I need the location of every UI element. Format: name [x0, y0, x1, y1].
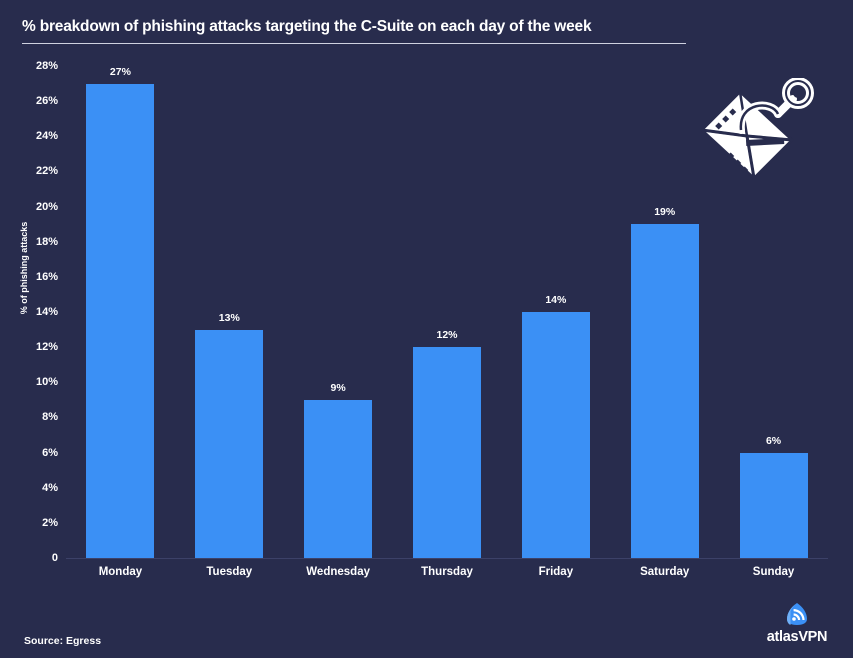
bar[interactable]: 13% — [195, 330, 263, 558]
y-axis-tick-label: 10% — [36, 376, 58, 388]
bar-value-label: 14% — [545, 294, 566, 306]
chart-page: % breakdown of phishing attacks targetin… — [0, 0, 853, 658]
bar-group[interactable]: 19% — [631, 66, 699, 558]
page-title: % breakdown of phishing attacks targetin… — [22, 18, 686, 43]
bar-value-label: 27% — [110, 66, 131, 78]
title-divider — [22, 43, 686, 44]
x-axis-line — [66, 558, 828, 559]
x-axis-tick-label: Thursday — [421, 566, 473, 578]
y-axis-tick-label: 26% — [36, 95, 58, 107]
y-axis-tick-label: 8% — [42, 411, 58, 423]
bar[interactable]: 14% — [522, 312, 590, 558]
bar[interactable]: 12% — [413, 347, 481, 558]
y-axis-tick-label: 20% — [36, 201, 58, 213]
y-axis-tick-label: 2% — [42, 517, 58, 529]
chart-title-block: % breakdown of phishing attacks targetin… — [22, 18, 686, 44]
bar-group[interactable]: 14% — [522, 66, 590, 558]
bar-group[interactable]: 12% — [413, 66, 481, 558]
bar-value-label: 6% — [766, 435, 781, 447]
x-axis-tick-label: Saturday — [640, 566, 689, 578]
x-axis-tick-label: Sunday — [753, 566, 795, 578]
x-axis-tick-label: Friday — [539, 566, 574, 578]
bar-value-label: 19% — [654, 206, 675, 218]
bar[interactable]: 6% — [740, 453, 808, 558]
y-axis-tick-label: 4% — [42, 482, 58, 494]
y-axis-tick-label: 22% — [36, 165, 58, 177]
y-axis-ticks: 02%4%6%8%10%12%14%16%18%20%22%24%26%28% — [0, 0, 58, 658]
y-axis-tick-label: 0 — [52, 552, 58, 564]
signal-shield-icon — [784, 602, 810, 626]
bar-value-label: 13% — [219, 312, 240, 324]
y-axis-tick-label: 6% — [42, 447, 58, 459]
x-axis-tick-label: Monday — [99, 566, 142, 578]
y-axis-tick-label: 28% — [36, 60, 58, 72]
brand-logo: atlasVPN — [757, 602, 837, 645]
bar[interactable]: 19% — [631, 224, 699, 558]
bar-value-label: 9% — [331, 382, 346, 394]
bar-group[interactable]: 9% — [304, 66, 372, 558]
x-axis-tick-label: Tuesday — [206, 566, 252, 578]
y-axis-tick-label: 12% — [36, 341, 58, 353]
y-axis-tick-label: 18% — [36, 236, 58, 248]
bar-group[interactable]: 13% — [195, 66, 263, 558]
x-axis-tick-label: Wednesday — [306, 566, 370, 578]
y-axis-tick-label: 14% — [36, 306, 58, 318]
bar[interactable]: 27% — [86, 84, 154, 558]
phishing-envelope-hook-icon — [694, 78, 816, 190]
bar-value-label: 12% — [436, 329, 457, 341]
bar-group[interactable]: 27% — [86, 66, 154, 558]
y-axis-title: % of phishing attacks — [19, 208, 29, 328]
y-axis-tick-label: 16% — [36, 271, 58, 283]
bar[interactable]: 9% — [304, 400, 372, 558]
source-note: Source: Egress — [24, 635, 101, 647]
brand-name: atlasVPN — [757, 629, 837, 645]
y-axis-tick-label: 24% — [36, 130, 58, 142]
